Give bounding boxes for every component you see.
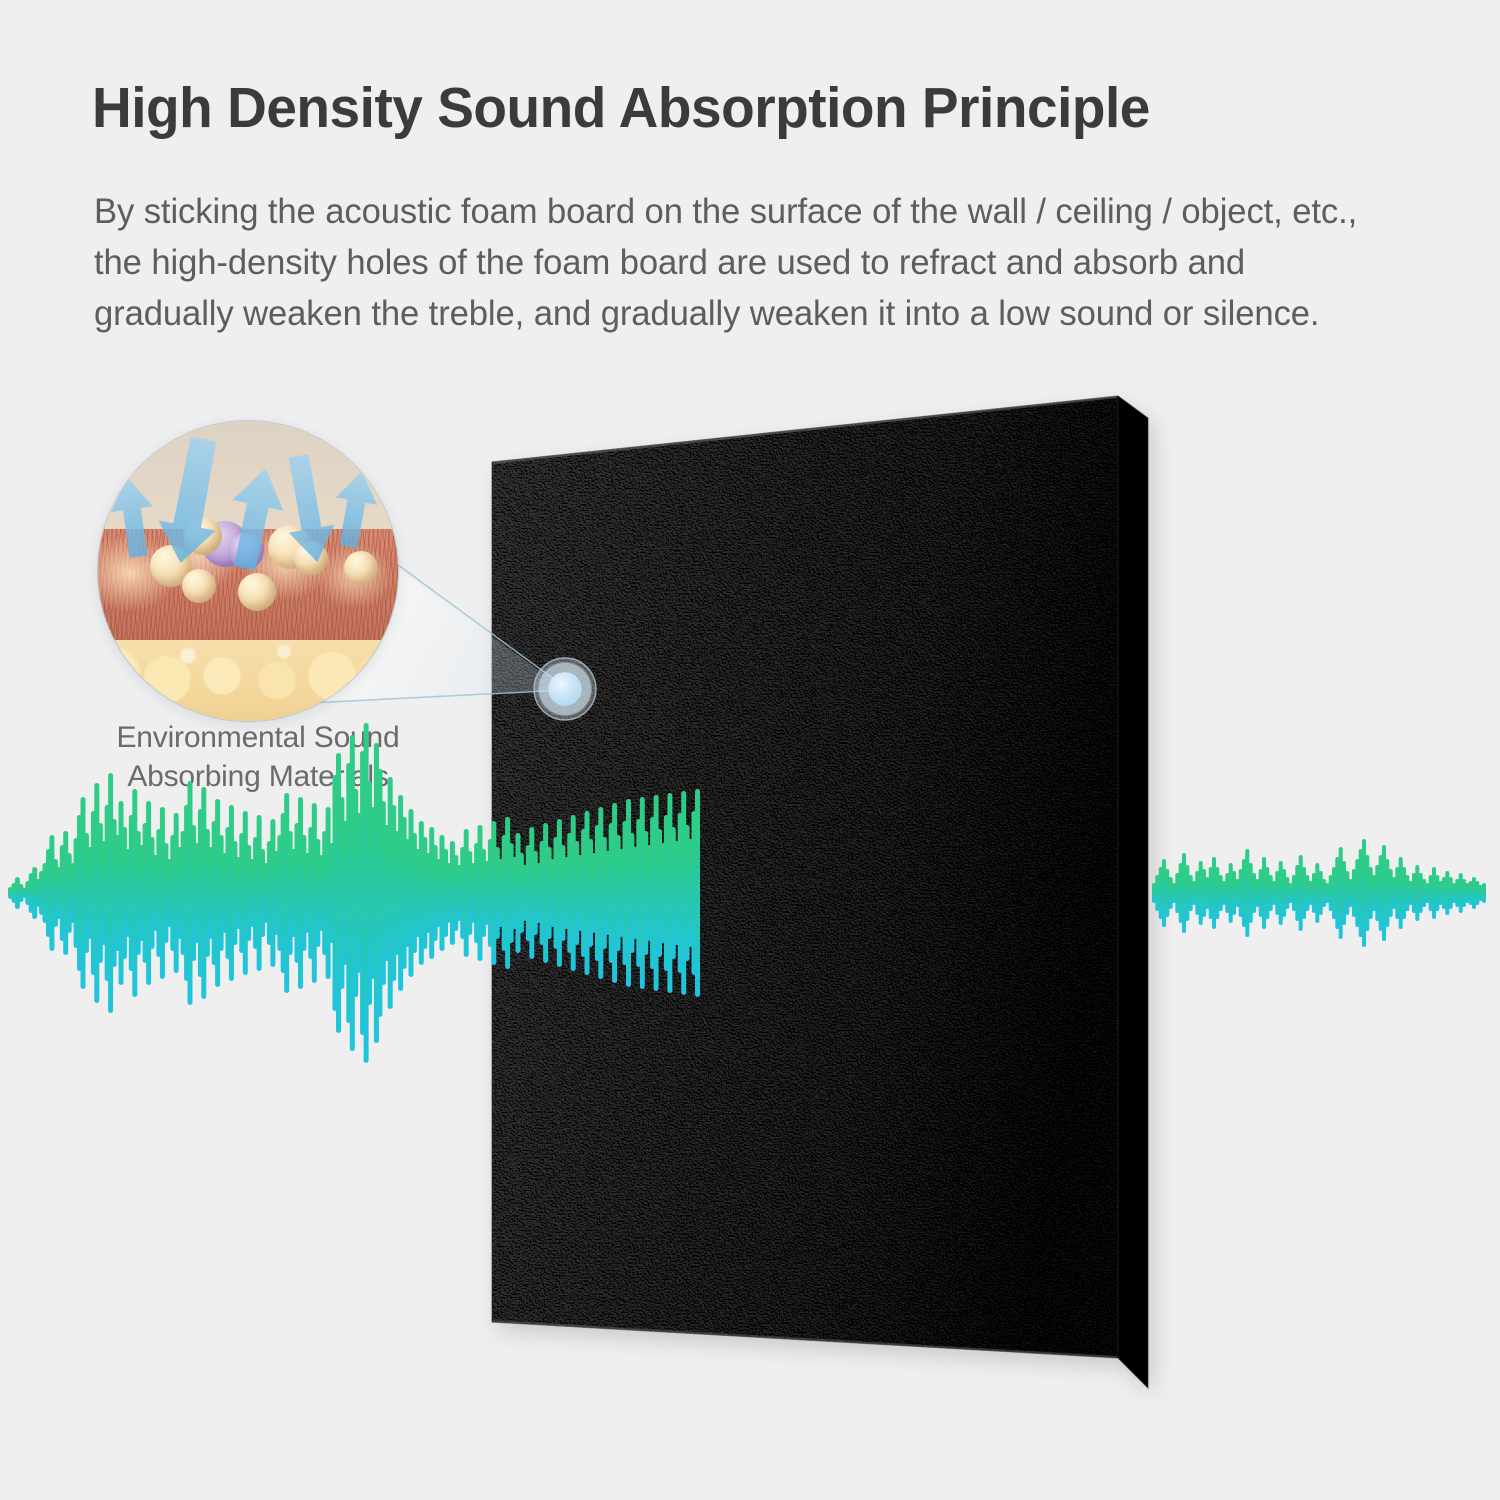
waveform-outgoing	[0, 0, 1500, 1500]
infographic-page: High Density Sound Absorption Principle …	[0, 0, 1500, 1500]
